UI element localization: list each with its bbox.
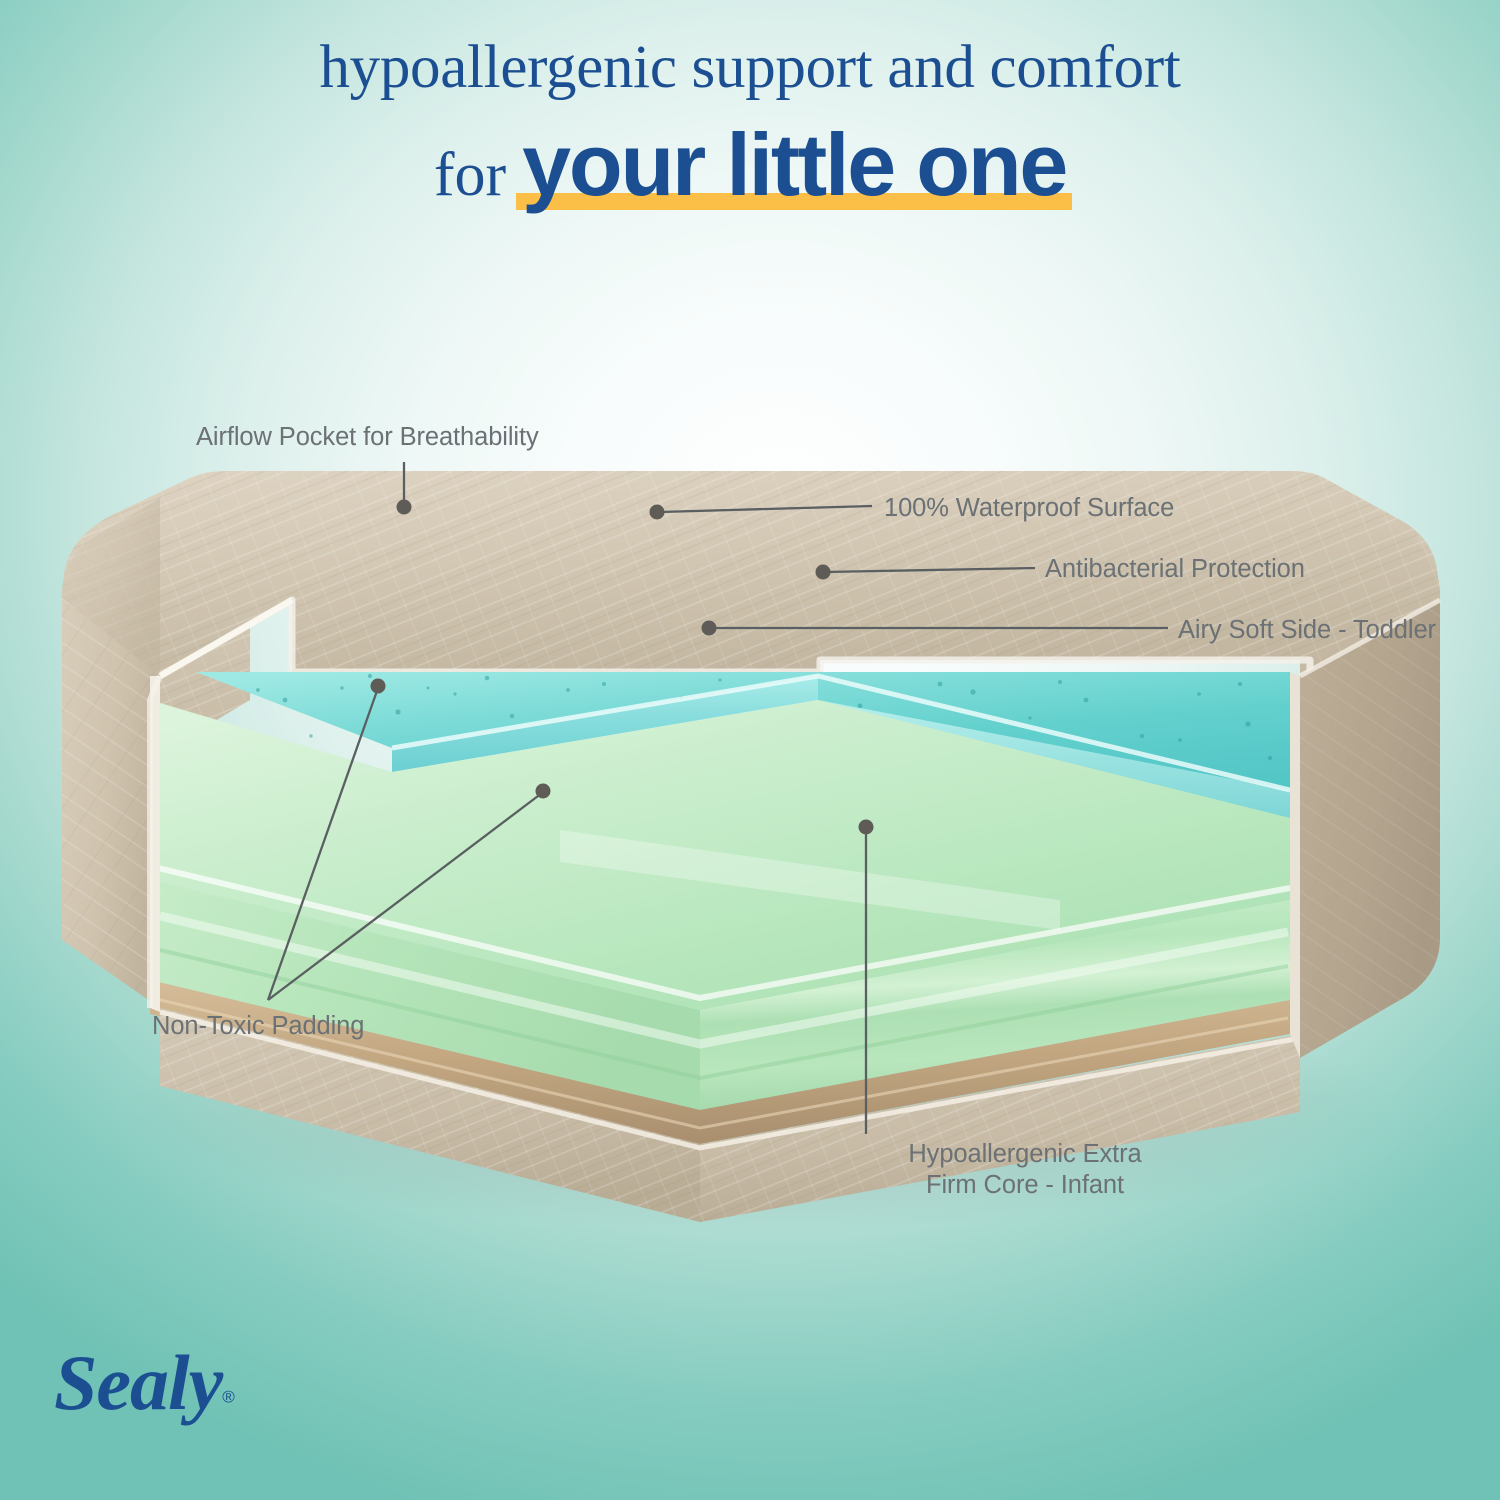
dot-core	[859, 820, 874, 835]
headline-block: hypoallergenic support and comfort for y…	[0, 36, 1500, 216]
dot-waterproof	[650, 505, 665, 520]
headline-prefix: for	[434, 140, 506, 211]
callout-extra-firm-core-line-2: Firm Core - Infant	[880, 1170, 1170, 1201]
callout-airflow-pocket: Airflow Pocket for Breathability	[196, 422, 539, 453]
sealy-wordmark: Sealy	[54, 1339, 222, 1426]
callout-extra-firm-core-line-1: Hypoallergenic Extra	[880, 1139, 1170, 1170]
headline-emphasis: your little one	[522, 115, 1066, 214]
sealy-logo: Sealy®	[54, 1344, 235, 1422]
dot-antibacterial	[816, 565, 831, 580]
callout-antibacterial-protection: Antibacterial Protection	[1045, 554, 1305, 585]
dot-nontoxic-a	[371, 679, 386, 694]
callout-non-toxic-padding: Non-Toxic Padding	[152, 1011, 364, 1042]
cover-right-face-weave	[1300, 600, 1440, 1058]
mattress-cutaway-illustration	[0, 0, 1500, 1500]
registered-trademark-icon: ®	[222, 1388, 235, 1407]
mattress-body	[62, 477, 1440, 1222]
poster-canvas: hypoallergenic support and comfort for y…	[0, 0, 1500, 1500]
dot-airflow	[397, 500, 412, 515]
callout-extra-firm-core: Hypoallergenic Extra Firm Core - Infant	[880, 1139, 1170, 1201]
dot-nontoxic-b	[536, 784, 551, 799]
headline-line-1: hypoallergenic support and comfort	[0, 36, 1500, 100]
headline-emphasis-wrap: your little one	[522, 114, 1066, 216]
headline-line-2: for your little one	[0, 114, 1500, 216]
callout-airy-soft-side: Airy Soft Side - Toddler	[1178, 615, 1436, 646]
dot-airy-soft-side	[702, 621, 717, 636]
callout-waterproof-surface: 100% Waterproof Surface	[884, 493, 1174, 524]
cover-right-inner-cut	[1290, 672, 1300, 1058]
